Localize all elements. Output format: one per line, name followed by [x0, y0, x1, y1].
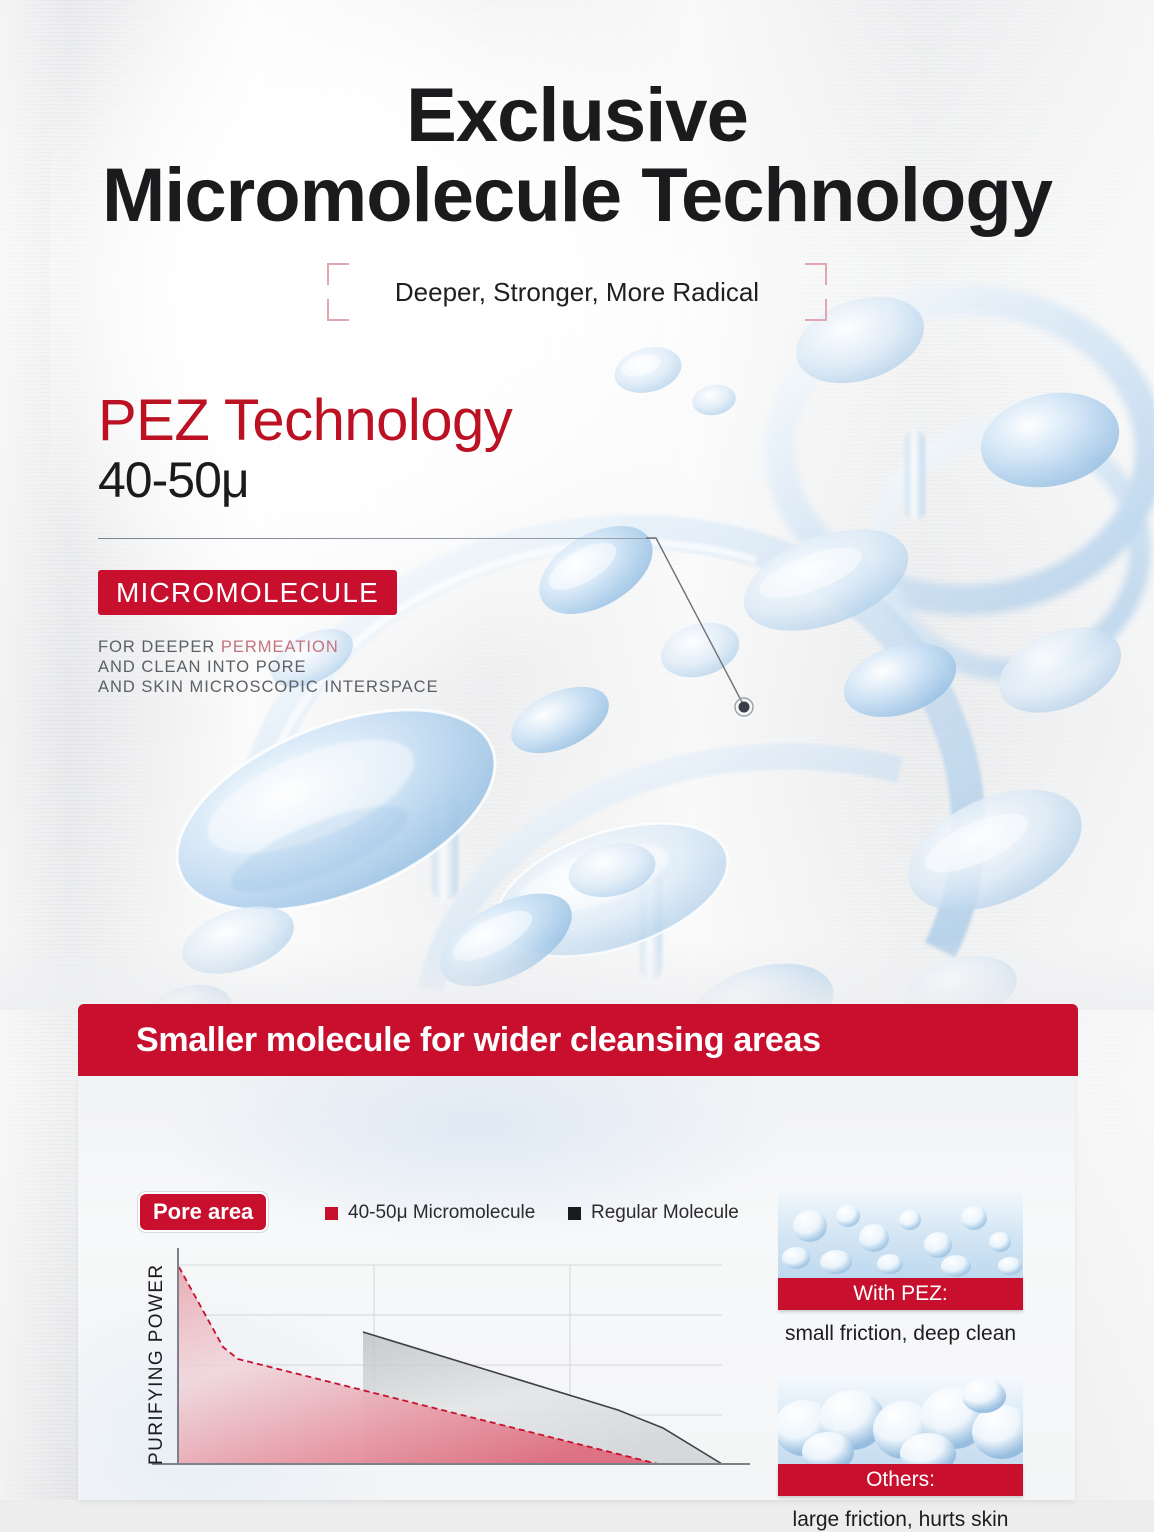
panel-card: Pore area 40-50μ Micromolecule Regular M… [78, 1076, 1075, 1500]
feature-description-line-3: AND SKIN MICROSCOPIC INTERSPACE [98, 677, 439, 697]
others-note: large friction, hurts skin [778, 1508, 1023, 1532]
panel-banner: Smaller molecule for wider cleansing are… [78, 1004, 1078, 1076]
feature-divider [98, 538, 655, 539]
feature-description-line-2: AND CLEAN INTO PORE [98, 657, 439, 677]
panel-banner-title: Smaller molecule for wider cleansing are… [136, 1021, 821, 1060]
pore-area-badge-label: Pore area [153, 1199, 253, 1225]
desc-highlight: PERMEATION [221, 638, 339, 656]
chart-svg [118, 1242, 798, 1487]
legend-label-micromolecule: 40-50μ Micromolecule [348, 1202, 535, 1224]
with-pez-image [778, 1190, 1023, 1278]
micromolecule-badge-label: MICROMOLECULE [116, 577, 379, 609]
technology-size: 40-50μ [98, 455, 249, 505]
with-pez-caption: With PEZ: [778, 1278, 1023, 1310]
subtitle-frame: Deeper, Stronger, More Radical [327, 263, 827, 321]
legend-label-regular: Regular Molecule [591, 1202, 739, 1224]
pore-area-badge: Pore area [138, 1192, 268, 1232]
feature-description-line-1: FOR DEEPER PERMEATION [98, 637, 439, 657]
legend-swatch-micromolecule-icon [325, 1207, 338, 1220]
chart-y-axis-label: PURIFYING POWER [146, 1242, 168, 1487]
legend-swatch-regular-icon [568, 1207, 581, 1220]
page-subtitle: Deeper, Stronger, More Radical [327, 263, 827, 321]
comparison-card-with-pez: With PEZ: small friction, deep clean [778, 1190, 1023, 1346]
technology-title: PEZ Technology [98, 392, 512, 450]
page-title-line-2: Micromolecule Technology [0, 158, 1154, 234]
callout-leader-line [640, 530, 780, 730]
micromolecule-badge: MICROMOLECULE [98, 570, 397, 615]
others-image [778, 1376, 1023, 1464]
legend-item-micromolecule: 40-50μ Micromolecule [325, 1202, 535, 1224]
legend-item-regular: Regular Molecule [568, 1202, 739, 1224]
feature-description: FOR DEEPER PERMEATION AND CLEAN INTO POR… [98, 637, 439, 697]
molecule-artwork [0, 250, 1154, 1010]
others-caption: Others: [778, 1464, 1023, 1496]
comparison-card-others: Others: large friction, hurts skin [778, 1376, 1023, 1532]
purifying-power-chart: PURIFYING POWER [118, 1242, 798, 1487]
page-title-line-1: Exclusive [0, 78, 1154, 154]
desc-prefix: FOR DEEPER [98, 638, 221, 656]
comparison-panel: Smaller molecule for wider cleansing are… [78, 1004, 1078, 1500]
with-pez-note: small friction, deep clean [778, 1322, 1023, 1346]
